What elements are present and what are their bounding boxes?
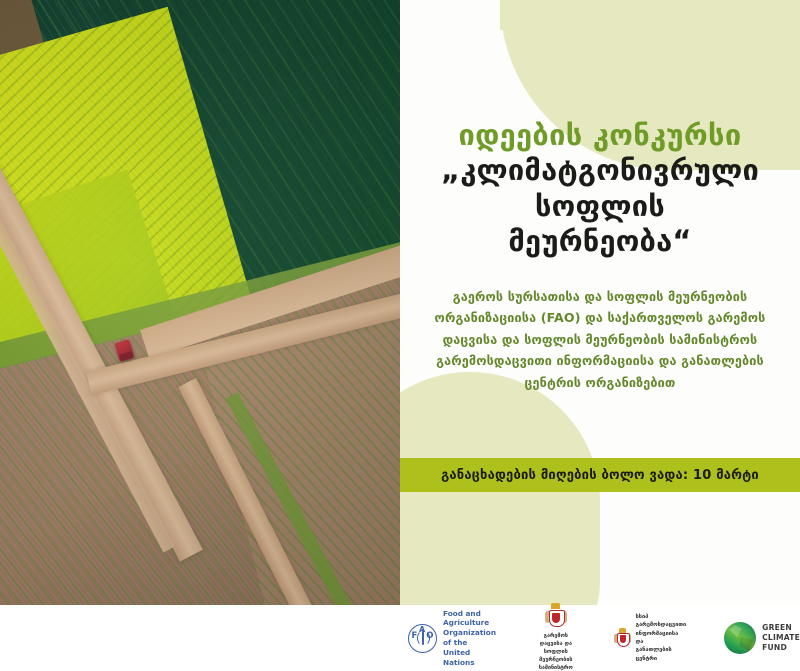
deadline-text: განაცხადების მიღების ბოლო ვადა: 10 მარტი xyxy=(441,468,759,483)
fao-letter-a: A xyxy=(419,626,425,634)
ministry-text-line-1: გარემოს დაცვისა და სოფლის xyxy=(538,633,574,656)
fao-text-line-3: United Nations xyxy=(443,648,496,668)
crest-crown xyxy=(551,603,560,609)
fao-letter-f: F xyxy=(412,632,418,641)
green-climate-fund-logo: GREEN CLIMATE FUND xyxy=(724,622,800,654)
center-text-line-3: განათლების ცენტრი xyxy=(636,646,687,663)
body-line-2: ორგანიზაციისა (FAO) და საქართველოს გარემ… xyxy=(426,307,774,329)
gcf-text-line-1: GREEN xyxy=(762,623,800,633)
georgia-coat-of-arms-icon xyxy=(545,603,567,630)
gcf-text-line-2: CLIMATE xyxy=(762,633,800,643)
environmental-center-text: სსიპ გარემოსდაცვითი ინფორმაციისა და განა… xyxy=(636,613,687,663)
environmental-center-logo: სსიპ გარემოსდაცვითი ინფორმაციისა და განა… xyxy=(614,613,687,663)
gcf-logo-text: GREEN CLIMATE FUND xyxy=(762,623,800,653)
fao-letter-o: O xyxy=(426,632,433,641)
gcf-text-line-3: FUND xyxy=(762,643,800,653)
crest-small-shield xyxy=(617,633,630,647)
fao-logo-text: Food and Agriculture Organization of the… xyxy=(443,609,496,668)
center-text-line-2: ინფორმაციისა და xyxy=(636,630,687,647)
fao-text-line-2: Organization of the xyxy=(443,628,496,648)
ministry-text-line-2: მეურნეობის სამინისტრო xyxy=(538,657,574,671)
poster-headline: იდეების კონკურსი „კლიმატგონივრული სოფლის… xyxy=(414,0,786,260)
green-globe-icon xyxy=(724,622,756,654)
aerial-farmland-photo xyxy=(0,0,400,671)
georgia-coat-of-arms-small-icon xyxy=(614,628,631,649)
body-line-5: ცენტრის ორგანიზებით xyxy=(426,372,774,394)
crest-shield xyxy=(549,610,565,627)
logo-bar: F A O Food and Agriculture Organization … xyxy=(0,605,800,671)
fao-logo: F A O Food and Agriculture Organization … xyxy=(408,609,496,668)
poster-root: იდეების კონკურსი „კლიმატგონივრული სოფლის… xyxy=(0,0,800,671)
photo-vignette xyxy=(0,0,400,671)
ministry-logo-text: გარემოს დაცვისა და სოფლის მეურნეობის სამ… xyxy=(538,633,574,671)
headline-line-3: სოფლის xyxy=(414,189,786,224)
headline-line-4: მეურნეობა“ xyxy=(414,224,786,259)
fao-emblem-icon: F A O xyxy=(408,624,437,653)
headline-line-1: იდეების კონკურსი xyxy=(414,118,786,153)
body-line-3: დაცვისა და სოფლის მეურნეობის სამინისტროს xyxy=(426,329,774,351)
headline-line-2: „კლიმატგონივრული xyxy=(414,153,786,188)
crest-small-crown xyxy=(619,628,626,633)
body-line-4: გარემოსდაცვითი ინფორმაციისა და განათლები… xyxy=(426,350,774,372)
deadline-banner: განაცხადების მიღების ბოლო ვადა: 10 მარტი xyxy=(400,458,800,492)
text-panel: იდეების კონკურსი „კლიმატგონივრული სოფლის… xyxy=(400,0,800,671)
ministry-logo: გარემოს დაცვისა და სოფლის მეურნეობის სამ… xyxy=(538,603,574,671)
fao-text-line-1: Food and Agriculture xyxy=(443,609,496,629)
organizer-description: გაეროს სურსათისა და სოფლის მეურნეობის ორ… xyxy=(414,286,786,394)
body-line-1: გაეროს სურსათისა და სოფლის მეურნეობის xyxy=(426,286,774,308)
panel-content: იდეების კონკურსი „კლიმატგონივრული სოფლის… xyxy=(400,0,800,394)
center-text-line-1: სსიპ გარემოსდაცვითი xyxy=(636,613,687,630)
